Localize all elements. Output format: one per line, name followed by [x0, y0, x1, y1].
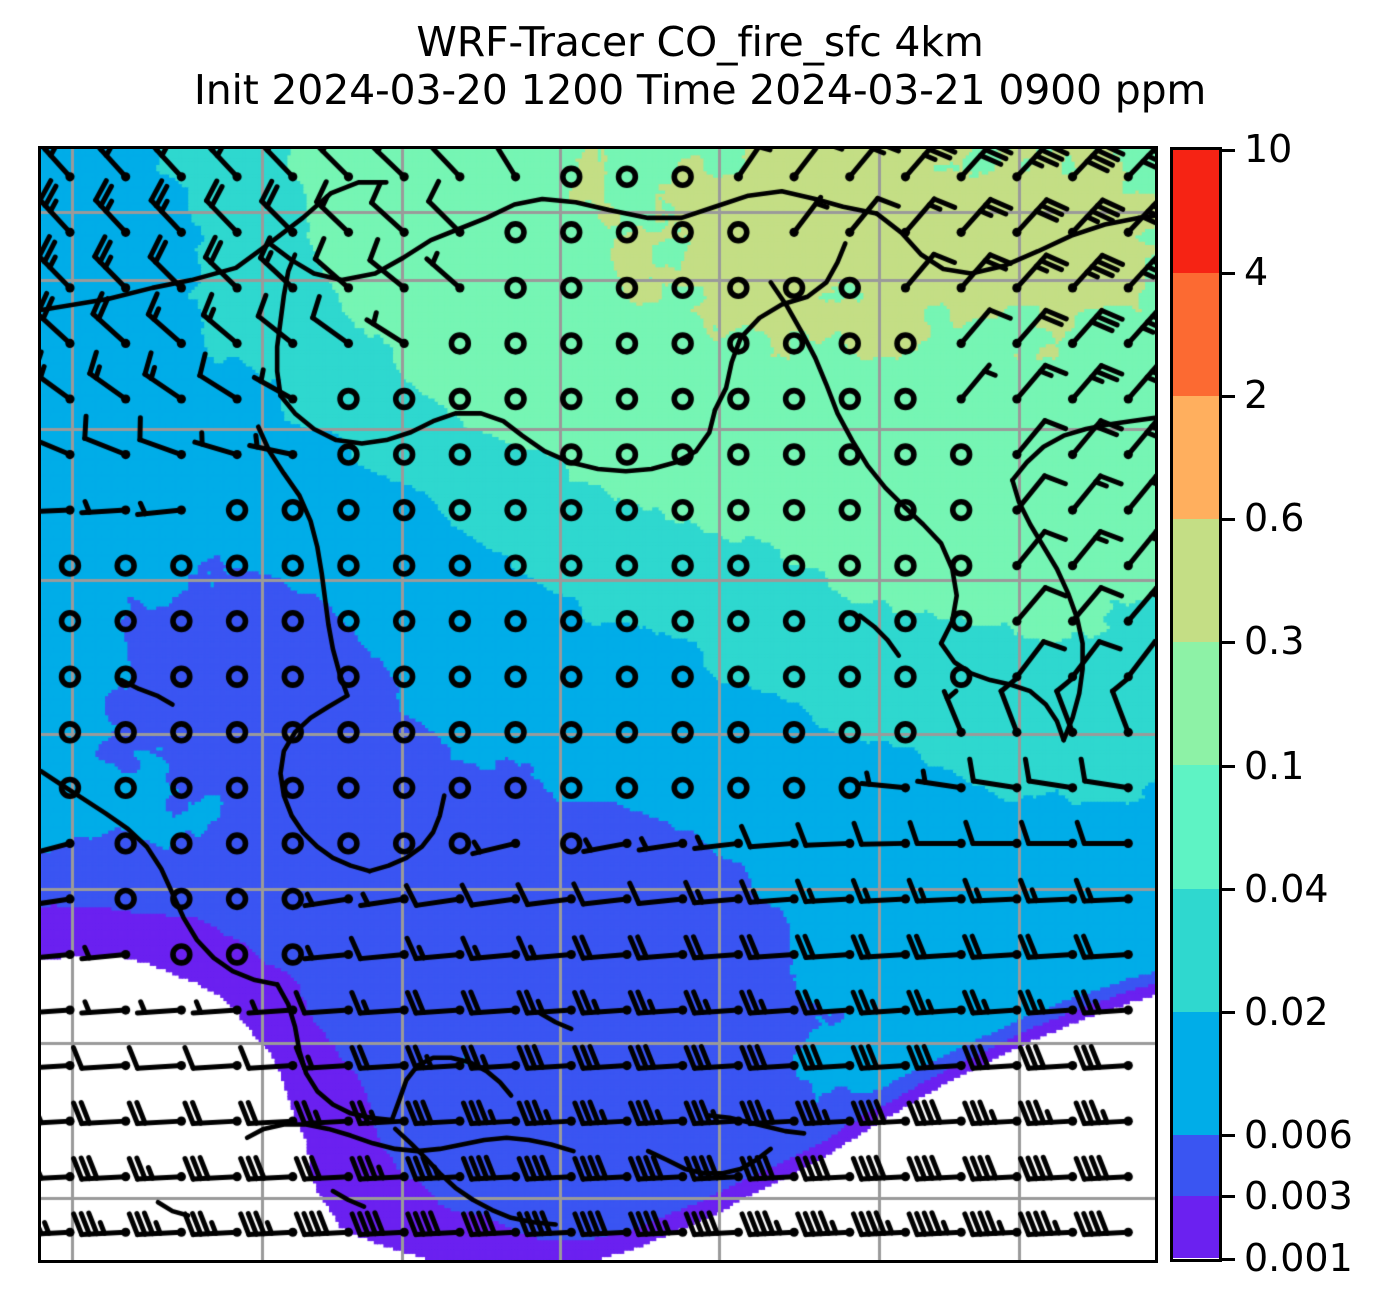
colorbar[interactable]: [1170, 147, 1222, 1262]
colorbar-tick-label: 0.001: [1244, 1236, 1353, 1280]
colorbar-tick-mark: [1222, 518, 1235, 521]
figure-root: WRF-Tracer CO_fire_sfc 4km Init 2024-03-…: [0, 0, 1400, 1313]
colorbar-tick-mark: [1222, 765, 1235, 768]
colorbar-tick-label: 0.02: [1244, 990, 1329, 1034]
title-line-1: WRF-Tracer CO_fire_sfc 4km: [0, 18, 1400, 66]
colorbar-tick-label: 0.1: [1244, 744, 1304, 788]
colorbar-tick-mark: [1222, 1195, 1235, 1198]
title-line-2: Init 2024-03-20 1200 Time 2024-03-21 090…: [0, 66, 1400, 114]
map-axes[interactable]: [38, 146, 1158, 1263]
colorbar-tick-label: 0.3: [1244, 619, 1304, 663]
colorbar-tick-mark: [1222, 641, 1235, 644]
colorbar-band: [1173, 1012, 1219, 1135]
colorbar-tick-mark: [1222, 888, 1235, 891]
tracer-concentration-map[interactable]: [41, 149, 1155, 1260]
colorbar-tick-label: 0.003: [1244, 1174, 1353, 1218]
colorbar-tick-label: 10: [1244, 127, 1292, 171]
colorbar-tick-label: 0.006: [1244, 1113, 1353, 1157]
colorbar-tick-label: 4: [1244, 250, 1268, 294]
colorbar-tick-mark: [1222, 149, 1235, 152]
colorbar-band: [1173, 273, 1219, 396]
colorbar-band: [1173, 396, 1219, 519]
colorbar-band: [1173, 1135, 1219, 1197]
colorbar-tick-labels: 10420.60.30.10.040.020.0060.0030.001: [1222, 147, 1392, 1262]
colorbar-band: [1173, 889, 1219, 1012]
colorbar-band: [1173, 1196, 1219, 1258]
colorbar-band: [1173, 150, 1219, 273]
figure-title: WRF-Tracer CO_fire_sfc 4km Init 2024-03-…: [0, 18, 1400, 115]
colorbar-tick-mark: [1222, 395, 1235, 398]
colorbar-tick-label: 0.6: [1244, 496, 1304, 540]
colorbar-tick-mark: [1222, 272, 1235, 275]
colorbar-tick-mark: [1222, 1134, 1235, 1137]
colorbar-tick-label: 0.04: [1244, 867, 1329, 911]
colorbar-tick-label: 2: [1244, 373, 1268, 417]
colorbar-tick-mark: [1222, 1258, 1235, 1261]
colorbar-band: [1173, 765, 1219, 888]
colorbar-tick-mark: [1222, 1011, 1235, 1014]
colorbar-band: [1173, 519, 1219, 642]
colorbar-band: [1173, 642, 1219, 765]
